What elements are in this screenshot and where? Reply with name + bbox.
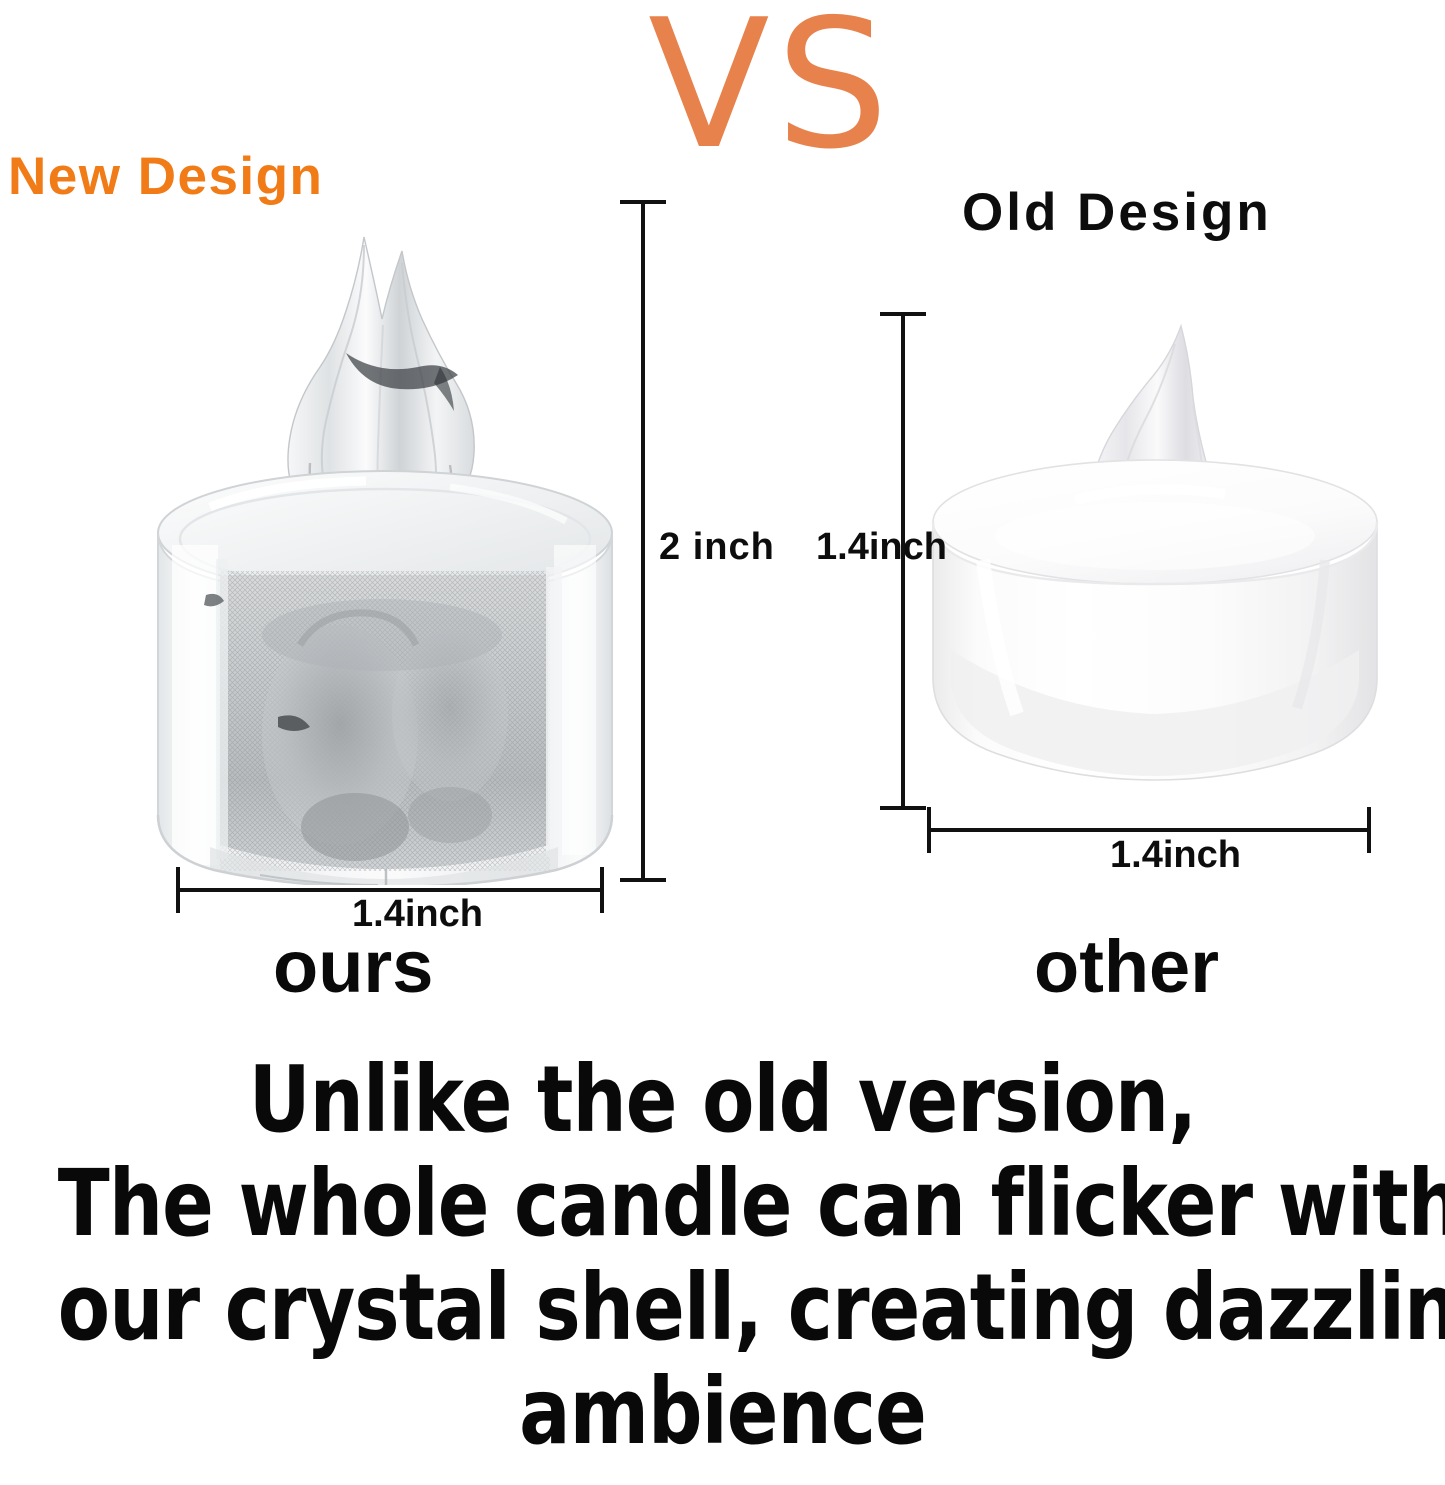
new-design-height-label: 2 inch — [659, 528, 775, 566]
new-design-width-dimension-line — [176, 888, 604, 892]
comparison-infographic: VS New Design Old Design — [0, 0, 1445, 1485]
marketing-blurb: Unlike the old version, The whole candle… — [0, 1048, 1445, 1464]
dim-cap-right — [1367, 807, 1371, 853]
dim-cap-left — [927, 807, 931, 853]
old-design-width-dimension-line — [927, 828, 1371, 832]
dim-cap-top — [620, 200, 666, 204]
white-candle-body — [933, 460, 1377, 780]
new-design-height-dimension-line — [641, 200, 645, 882]
old-design-width-label: 1.4inch — [1110, 836, 1241, 874]
new-design-product-image — [150, 215, 620, 885]
old-design-height-label: 1.4inch — [816, 528, 947, 566]
dim-cap-bottom — [880, 806, 926, 810]
blurb-line-4: ambience — [58, 1360, 1387, 1464]
old-design-caption: other — [1034, 930, 1219, 1004]
dim-cap-bottom — [620, 878, 666, 882]
vs-label: VS — [648, 0, 895, 174]
crystal-shell-body — [158, 533, 612, 885]
blurb-line-1: Unlike the old version, — [58, 1048, 1387, 1152]
new-design-caption: ours — [273, 930, 433, 1004]
old-design-label: Old Design — [962, 186, 1272, 239]
dim-cap-right — [600, 867, 604, 913]
old-design-product-image — [925, 310, 1385, 810]
dim-cap-left — [176, 867, 180, 913]
dim-cap-top — [880, 312, 926, 316]
blurb-line-3: our crystal shell, creating dazzling — [58, 1256, 1387, 1360]
new-design-label: New Design — [8, 150, 323, 203]
blurb-line-2: The whole candle can flicker with — [58, 1152, 1387, 1256]
